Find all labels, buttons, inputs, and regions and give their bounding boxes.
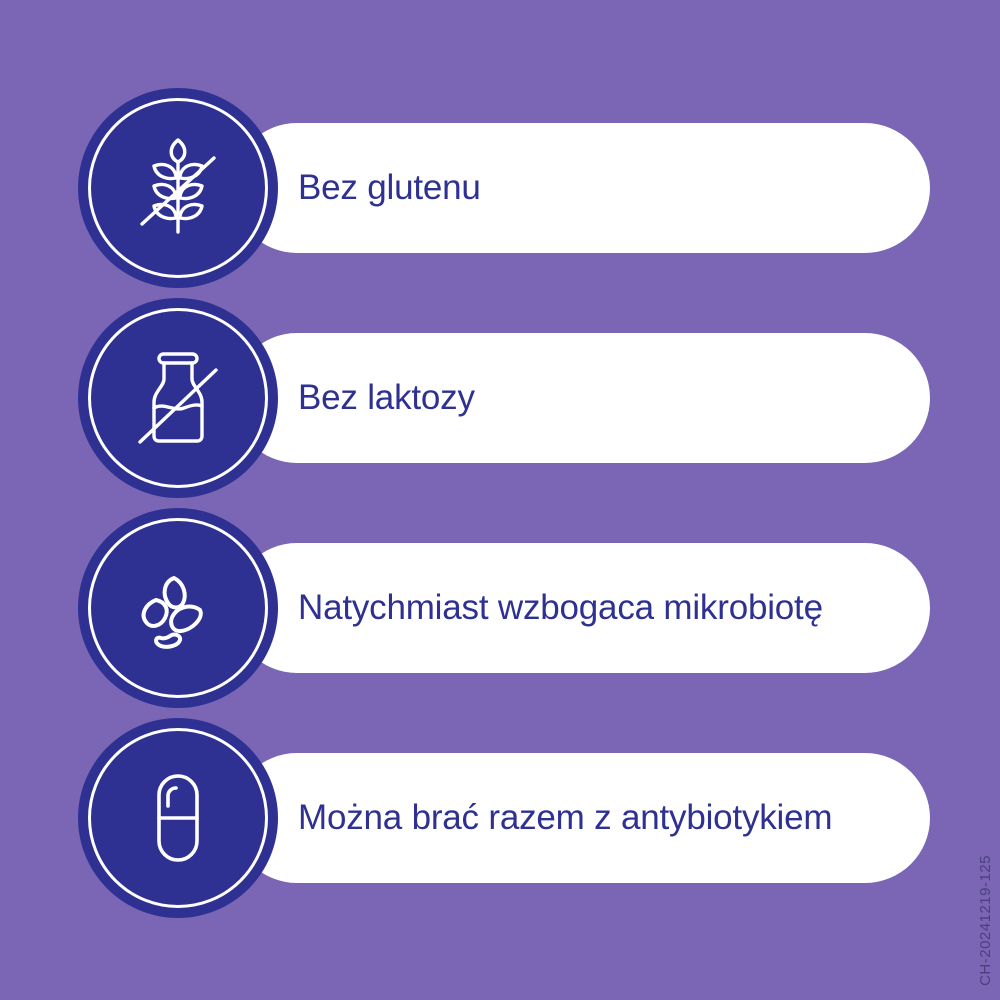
feature-row: Bez laktozy: [0, 292, 1000, 504]
feature-label: Można brać razem z antybiotykiem: [298, 753, 832, 883]
feature-icon-badge: [78, 718, 278, 918]
feature-icon-badge: [78, 298, 278, 498]
milk-bottle-crossed-out-icon: [78, 298, 278, 498]
capsule-pill-icon: [78, 718, 278, 918]
feature-label: Natychmiast wzbogaca mikrobiotę: [298, 543, 823, 673]
infographic-panel: Bez glutenu: [0, 0, 1000, 1000]
feature-label: Bez laktozy: [298, 333, 475, 463]
feature-pill: Bez laktozy: [232, 333, 930, 463]
feature-row: Bez glutenu: [0, 82, 1000, 294]
bacteria-icon: [78, 508, 278, 708]
feature-row: Natychmiast wzbogaca mikrobiotę: [0, 502, 1000, 714]
feature-pill: Bez glutenu: [232, 123, 930, 253]
reference-code: CH-20241219-125: [977, 855, 994, 986]
feature-pill: Można brać razem z antybiotykiem: [232, 753, 930, 883]
feature-icon-badge: [78, 508, 278, 708]
feature-pill: Natychmiast wzbogaca mikrobiotę: [232, 543, 930, 673]
feature-label: Bez glutenu: [298, 123, 481, 253]
wheat-crossed-out-icon: [78, 88, 278, 288]
feature-icon-badge: [78, 88, 278, 288]
feature-row: Można brać razem z antybiotykiem: [0, 712, 1000, 924]
